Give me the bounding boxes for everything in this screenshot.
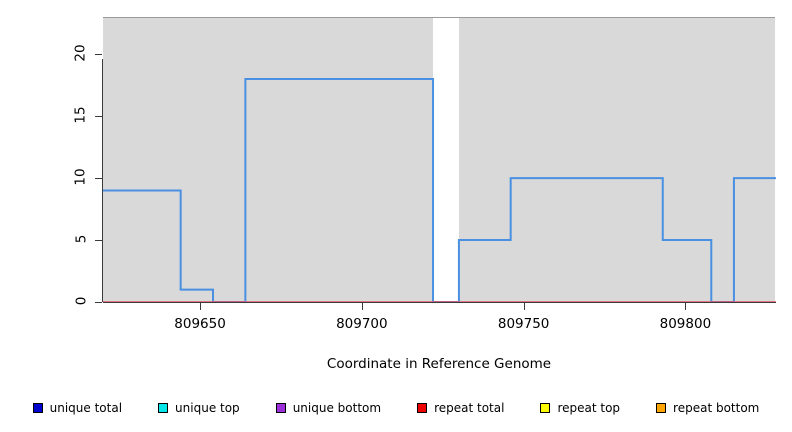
y-tick-label-5: 5 bbox=[70, 231, 92, 247]
legend-item-repeat-total[interactable]: repeat total bbox=[417, 401, 504, 415]
x-tick-809800 bbox=[685, 303, 686, 310]
y-tick-label-0: 0 bbox=[70, 293, 92, 309]
plot-series-layer bbox=[103, 17, 776, 303]
legend-label: repeat top bbox=[557, 401, 620, 415]
legend-swatch-icon bbox=[158, 403, 168, 413]
legend-item-repeat-top[interactable]: repeat top bbox=[540, 401, 620, 415]
x-axis-title: Coordinate in Reference Genome bbox=[103, 356, 775, 372]
x-tick-label-809650: 809650 bbox=[174, 316, 226, 332]
x-tick-809750 bbox=[524, 303, 525, 310]
legend-label: unique top bbox=[175, 401, 240, 415]
legend-swatch-icon bbox=[540, 403, 550, 413]
legend-label: repeat bottom bbox=[673, 401, 759, 415]
y-tick-0 bbox=[95, 302, 102, 303]
chart-legend: unique totalunique topunique bottomrepea… bbox=[0, 398, 792, 418]
x-tick-label-809750: 809750 bbox=[498, 316, 550, 332]
x-tick-809700 bbox=[362, 303, 363, 310]
x-axis-line bbox=[103, 302, 776, 303]
y-axis-title-text: Read Coverage Depth bbox=[8, 0, 32, 24]
y-tick-label-15: 15 bbox=[70, 107, 92, 123]
y-tick-10 bbox=[95, 178, 102, 179]
y-axis-title: Read Coverage Depth bbox=[8, 0, 32, 24]
legend-label: unique total bbox=[50, 401, 122, 415]
legend-label: repeat total bbox=[434, 401, 504, 415]
legend-swatch-icon bbox=[656, 403, 666, 413]
y-tick-15 bbox=[95, 116, 102, 117]
legend-item-unique-top[interactable]: unique top bbox=[158, 401, 240, 415]
y-tick-20 bbox=[95, 54, 102, 55]
legend-item-repeat-bottom[interactable]: repeat bottom bbox=[656, 401, 759, 415]
y-tick-label-10: 10 bbox=[70, 169, 92, 185]
legend-swatch-icon bbox=[33, 403, 43, 413]
legend-label: unique bottom bbox=[293, 401, 381, 415]
chart-root: Read Coverage Depth 80965080970080975080… bbox=[0, 0, 792, 432]
legend-swatch-icon bbox=[276, 403, 286, 413]
x-tick-809650 bbox=[200, 303, 201, 310]
legend-item-unique-total[interactable]: unique total bbox=[33, 401, 122, 415]
legend-swatch-icon bbox=[417, 403, 427, 413]
y-axis-line bbox=[102, 59, 103, 302]
y-tick-5 bbox=[95, 240, 102, 241]
series-line-unique-total bbox=[103, 79, 776, 302]
x-tick-label-809800: 809800 bbox=[660, 316, 712, 332]
y-tick-label-20: 20 bbox=[70, 45, 92, 61]
legend-item-unique-bottom[interactable]: unique bottom bbox=[276, 401, 381, 415]
x-tick-label-809700: 809700 bbox=[336, 316, 388, 332]
